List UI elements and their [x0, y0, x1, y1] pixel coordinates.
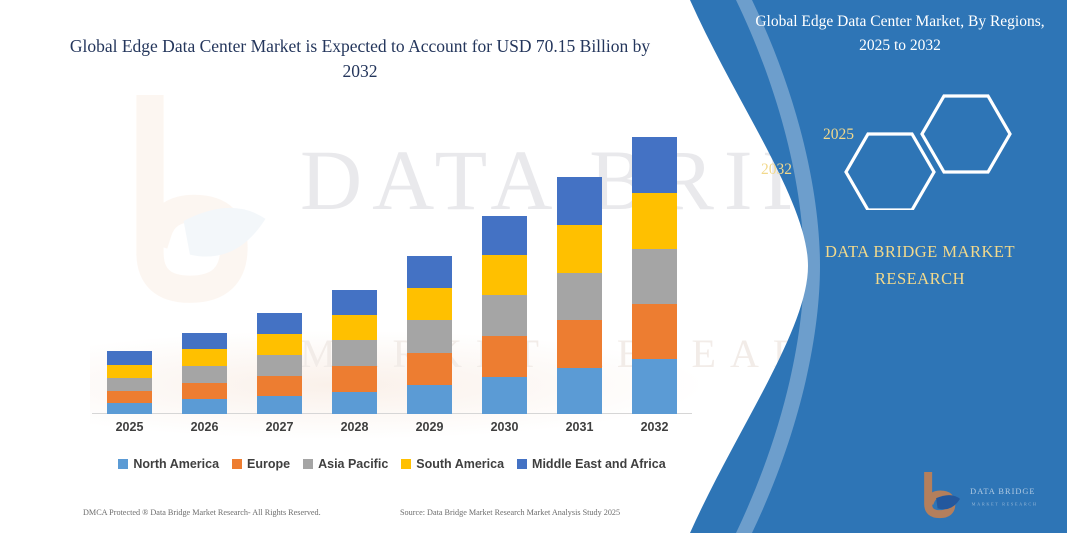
- bar-segment: [107, 351, 152, 365]
- bar-segment: [182, 383, 227, 399]
- chart-panel: DATA BRIDGE MARKET RESEARCH Global Edge …: [0, 0, 790, 533]
- chart-title: Global Edge Data Center Market is Expect…: [60, 34, 660, 84]
- logo-text-secondary: MARKET RESEARCH: [972, 501, 1038, 506]
- bar-segment: [332, 392, 377, 414]
- bar-column: [557, 177, 602, 414]
- legend-swatch-icon: [401, 459, 411, 469]
- brand-line-1: DATA BRIDGE MARKET: [825, 242, 1015, 261]
- bar-column: [632, 137, 677, 414]
- legend-label: North America: [133, 457, 219, 471]
- legend-label: South America: [416, 457, 504, 471]
- bar-column: [332, 290, 377, 414]
- hexagon-end-year: 2032: [761, 161, 792, 179]
- x-axis-label: 2031: [557, 420, 602, 434]
- legend-label: Middle East and Africa: [532, 457, 666, 471]
- bar-segment: [107, 403, 152, 414]
- legend-item[interactable]: North America: [118, 457, 219, 471]
- bar-segment: [557, 320, 602, 368]
- bar-segment: [332, 315, 377, 340]
- chart-legend: North AmericaEuropeAsia PacificSouth Ame…: [92, 454, 692, 474]
- bar-segment: [632, 359, 677, 414]
- footer: DMCA Protected ® Data Bridge Market Rese…: [0, 506, 790, 526]
- bar-segment: [332, 290, 377, 315]
- x-axis-label: 2029: [407, 420, 452, 434]
- bar-segment: [182, 349, 227, 366]
- infographic-canvas: DATA BRIDGE MARKET RESEARCH Global Edge …: [0, 0, 1067, 533]
- legend-swatch-icon: [517, 459, 527, 469]
- bar-segment: [557, 273, 602, 320]
- footer-source: Source: Data Bridge Market Research Mark…: [400, 508, 620, 517]
- bar-segment: [257, 355, 302, 376]
- bar-segment: [107, 365, 152, 378]
- legend-item[interactable]: Asia Pacific: [303, 457, 388, 471]
- bar-column: [182, 333, 227, 414]
- footer-copyright: DMCA Protected ® Data Bridge Market Rese…: [83, 508, 321, 517]
- legend-label: Europe: [247, 457, 290, 471]
- bar-segment: [482, 255, 527, 295]
- x-axis-labels: 20252026202720282029203020312032: [92, 420, 692, 442]
- bar-segment: [557, 368, 602, 414]
- bar-column: [482, 216, 527, 414]
- bar-segment: [407, 320, 452, 353]
- bar-segment: [557, 177, 602, 225]
- legend-swatch-icon: [118, 459, 128, 469]
- bar-segment: [182, 366, 227, 383]
- logo-text-primary: DATA BRIDGE: [970, 487, 1035, 496]
- x-axis-label: 2025: [107, 420, 152, 434]
- legend-swatch-icon: [232, 459, 242, 469]
- bar-segment: [407, 353, 452, 385]
- bar-segment: [482, 377, 527, 414]
- brand-line-2: RESEARCH: [875, 269, 965, 288]
- x-axis-label: 2028: [332, 420, 377, 434]
- company-logo-icon: DATA BRIDGE MARKET RESEARCH: [918, 472, 1063, 520]
- stacked-bar-plot: [92, 120, 692, 414]
- x-axis-label: 2032: [632, 420, 677, 434]
- bar-segment: [632, 137, 677, 193]
- x-axis-label: 2026: [182, 420, 227, 434]
- x-axis-label: 2027: [257, 420, 302, 434]
- bar-segment: [407, 385, 452, 414]
- bar-segment: [557, 225, 602, 273]
- bar-column: [107, 351, 152, 414]
- panel-title: Global Edge Data Center Market, By Regio…: [750, 10, 1050, 58]
- bar-segment: [482, 336, 527, 377]
- legend-item[interactable]: South America: [401, 457, 504, 471]
- bar-segment: [632, 193, 677, 249]
- bar-segment: [257, 334, 302, 355]
- brand-name: DATA BRIDGE MARKET RESEARCH: [790, 238, 1050, 292]
- bar-segment: [332, 340, 377, 366]
- x-axis-label: 2030: [482, 420, 527, 434]
- brand-panel: Global Edge Data Center Market, By Regio…: [690, 0, 1067, 533]
- legend-label: Asia Pacific: [318, 457, 388, 471]
- bar-segment: [482, 216, 527, 255]
- legend-item[interactable]: Europe: [232, 457, 290, 471]
- bar-segment: [257, 313, 302, 334]
- bar-segment: [107, 391, 152, 403]
- bar-segment: [632, 249, 677, 304]
- bar-segment: [182, 399, 227, 414]
- bar-column: [257, 313, 302, 414]
- bar-segment: [407, 288, 452, 320]
- legend-item[interactable]: Middle East and Africa: [517, 457, 666, 471]
- bar-segment: [332, 366, 377, 392]
- bar-segment: [632, 304, 677, 359]
- bar-column: [407, 256, 452, 414]
- legend-swatch-icon: [303, 459, 313, 469]
- bar-segment: [107, 378, 152, 391]
- bar-segment: [182, 333, 227, 349]
- hexagon-pair-icon: [816, 90, 1036, 210]
- bar-segment: [482, 295, 527, 336]
- bar-segment: [257, 376, 302, 396]
- bar-segment: [407, 256, 452, 288]
- bar-segment: [257, 396, 302, 414]
- hexagon-start-year: 2025: [823, 126, 854, 144]
